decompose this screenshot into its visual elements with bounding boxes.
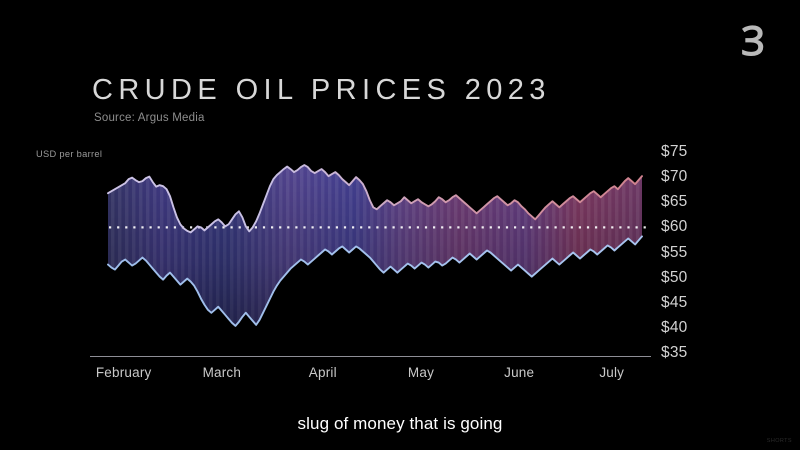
y-axis-tick: $70 xyxy=(661,168,687,186)
channel-logo-icon: Ɜ xyxy=(736,22,770,62)
x-axis-tick: March xyxy=(203,365,242,380)
chart-plot-area xyxy=(90,145,650,357)
price-range-band xyxy=(108,165,642,326)
y-axis-tick: $35 xyxy=(661,344,687,362)
chart-source-label: Source: Argus Media xyxy=(94,112,205,124)
video-caption: slug of money that is going xyxy=(0,414,800,434)
y-axis-unit-label: USD per barrel xyxy=(36,149,102,159)
y-axis-tick: $75 xyxy=(661,143,687,161)
range-area-chart xyxy=(90,145,650,357)
watermark-label: SHORTS xyxy=(767,438,792,444)
x-axis-tick: April xyxy=(309,365,337,380)
video-frame: Ɜ CRUDE OIL PRICES 2023 Source: Argus Me… xyxy=(0,0,800,450)
page-title: CRUDE OIL PRICES 2023 xyxy=(92,74,551,107)
x-axis-tick: June xyxy=(504,365,534,380)
x-axis-tick: February xyxy=(96,365,152,380)
x-axis-line xyxy=(90,356,651,357)
y-axis-tick: $60 xyxy=(661,218,687,236)
x-axis-labels: FebruaryMarchAprilMayJuneJuly xyxy=(90,365,651,385)
x-axis-tick: July xyxy=(599,365,624,380)
y-axis-tick: $45 xyxy=(661,294,687,312)
y-axis-tick: $55 xyxy=(661,244,687,262)
x-axis-tick: May xyxy=(408,365,434,380)
y-axis-tick: $50 xyxy=(661,269,687,287)
y-axis-labels: $75$70$65$60$55$50$45$40$35 xyxy=(661,140,791,370)
y-axis-tick: $40 xyxy=(661,319,687,337)
y-axis-tick: $65 xyxy=(661,193,687,211)
